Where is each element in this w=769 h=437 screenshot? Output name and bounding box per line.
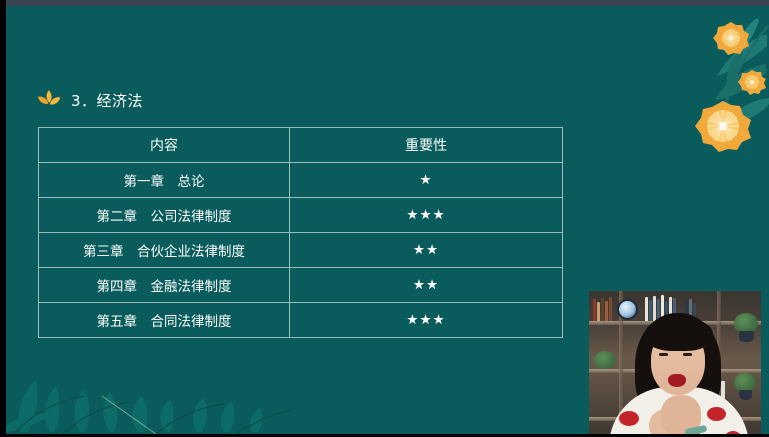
sprout-leaf-icon [36, 88, 62, 112]
cell-importance-stars: ★ [290, 163, 563, 198]
potted-plant [594, 351, 616, 369]
cell-chapter-name: 第四章 金融法律制度 [39, 268, 290, 303]
cell-importance-stars: ★★★ [290, 303, 563, 338]
table-row: 第五章 合同法律制度 ★★★ [39, 303, 563, 338]
blouse-pattern [707, 407, 726, 421]
plant-pot [739, 331, 754, 342]
cell-chapter-name: 第二章 公司法律制度 [39, 198, 290, 233]
column-header-content: 内容 [39, 128, 290, 163]
presenter-video-overlay[interactable] [589, 291, 761, 434]
table-row: 第二章 公司法律制度 ★★★ [39, 198, 563, 233]
cell-importance-stars: ★★ [290, 268, 563, 303]
presenter-video-frame [589, 291, 761, 434]
books-row [593, 297, 612, 321]
cell-importance-stars: ★★ [290, 233, 563, 268]
presenter-mouth [668, 374, 686, 387]
chapter-importance-table: 内容 重要性 第一章 总论 ★ 第二章 公司法律制度 ★★★ 第三章 合伙企业法… [38, 127, 562, 338]
presenter-fringe [645, 317, 713, 351]
left-letterbox-bar [0, 0, 6, 437]
cell-chapter-name: 第三章 合伙企业法律制度 [39, 233, 290, 268]
blouse-pattern [619, 411, 639, 426]
table-row: 第三章 合伙企业法律制度 ★★ [39, 233, 563, 268]
presenter-eye [659, 353, 668, 356]
page-title-text: 3．经济法 [71, 90, 143, 111]
cell-chapter-name: 第一章 总论 [39, 163, 290, 198]
plant-pot [739, 390, 752, 400]
page-title: 3．经济法 [36, 88, 143, 112]
wall-clock-icon [617, 299, 638, 320]
table-header-row: 内容 重要性 [39, 128, 563, 163]
leaf-silhouette-decoration [6, 354, 346, 434]
flower-branch-decoration [639, 6, 769, 156]
slide-canvas: 3．经济法 内容 重要性 第一章 总论 ★ [6, 6, 769, 434]
cell-importance-stars: ★★★ [290, 198, 563, 233]
slide-root: 3．经济法 内容 重要性 第一章 总论 ★ [0, 0, 769, 437]
presenter-eye [683, 353, 692, 356]
column-header-importance: 重要性 [290, 128, 563, 163]
table-row: 第一章 总论 ★ [39, 163, 563, 198]
cell-chapter-name: 第五章 合同法律制度 [39, 303, 290, 338]
potted-plant [734, 313, 758, 333]
table-row: 第四章 金融法律制度 ★★ [39, 268, 563, 303]
